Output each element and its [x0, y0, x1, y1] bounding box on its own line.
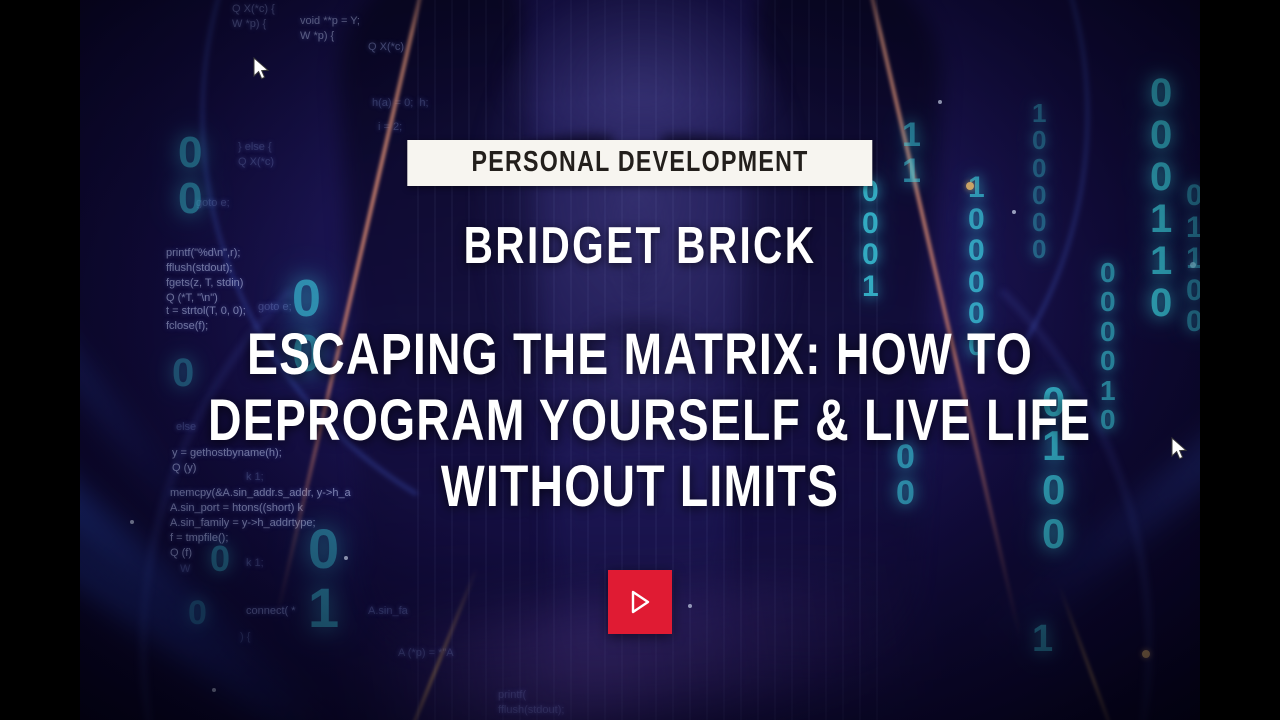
binary-column-13: 01100 — [1186, 180, 1200, 338]
sparkle-dot-8 — [688, 604, 692, 608]
sparkle-dot-0 — [966, 182, 974, 190]
binary-digit: 0 — [1100, 258, 1116, 287]
binary-column-15: 1 — [1032, 620, 1053, 660]
title-line-2: DEPROGRAM YOURSELF & LIVE LIFE — [208, 388, 1072, 454]
code-snippet-5: i = 2; — [378, 120, 402, 135]
code-snippet-18: A.sin_fa — [368, 604, 408, 619]
forehead — [498, 0, 784, 128]
code-snippet-17: ) { — [240, 630, 250, 645]
binary-digit: 1 — [1032, 100, 1046, 127]
code-snippet-16: connect( * — [246, 604, 296, 619]
sparkle-dot-1 — [1142, 650, 1150, 658]
binary-digit: 0 — [1032, 127, 1046, 154]
letterbox-bar-left — [0, 0, 80, 720]
binary-digit: 0 — [1186, 306, 1200, 338]
sparkle-dot-4 — [1012, 210, 1016, 214]
binary-digit: 0 — [1186, 180, 1200, 212]
binary-column-12: 000110 — [1150, 72, 1172, 324]
binary-digit: 0 — [1186, 275, 1200, 307]
sparkle-dot-7 — [344, 556, 348, 560]
code-snippet-2: Q X(*c) — [368, 40, 404, 55]
code-snippet-19: A (*p) = *"A — [398, 646, 454, 661]
binary-digit: 0 — [292, 272, 321, 327]
poster-content: PERSONAL DEVELOPMENT BRIDGET BRICK ESCAP… — [80, 0, 1200, 720]
code-snippet-6: goto e; — [196, 196, 230, 211]
binary-digit: 0 — [188, 596, 207, 632]
page-title: ESCAPING THE MATRIX: HOW TO DEPROGRAM YO… — [100, 322, 1180, 520]
speaker-name: BRIDGET BRICK — [414, 216, 866, 276]
code-snippet-20: printf( fflush(stdout); — [498, 688, 564, 718]
sparkle-dot-6 — [212, 688, 216, 692]
binary-digit: 0 — [968, 267, 985, 299]
category-badge-label: PERSONAL DEVELOPMENT — [471, 147, 808, 177]
title-line-3: WITHOUT LIMITS — [208, 454, 1072, 520]
video-poster[interactable]: Q X(*c) { W *p) {void **p = Y; W *p) {Q … — [80, 0, 1200, 720]
binary-digit: 0 — [968, 235, 985, 267]
binary-column-3: 01 — [308, 520, 339, 638]
code-snippet-9: goto e; — [258, 300, 292, 315]
play-icon — [627, 588, 653, 616]
binary-digit: 1 — [1150, 198, 1172, 240]
binary-digit: 1 — [1032, 620, 1053, 660]
speaker-name-label: BRIDGET BRICK — [464, 216, 817, 276]
binary-digit: 0 — [1032, 209, 1046, 236]
code-snippet-14: W — [180, 562, 190, 577]
binary-column-7: 11 — [902, 118, 921, 189]
binary-column-5: 0 — [188, 596, 207, 632]
code-snippet-4: h(a) = 0; h; — [372, 96, 429, 111]
binary-digit: 1 — [968, 172, 985, 204]
binary-digit: 1 — [902, 118, 921, 154]
code-snippet-0: Q X(*c) { W *p) { — [232, 2, 275, 32]
binary-digit: 0 — [210, 540, 230, 578]
code-snippet-7: printf("%d\n",r); fflush(stdout); fgets(… — [166, 246, 243, 306]
binary-digit: 1 — [308, 579, 339, 638]
category-badge: PERSONAL DEVELOPMENT — [407, 140, 872, 186]
binary-digit: 0 — [1150, 156, 1172, 198]
code-snippet-15: k 1; — [246, 556, 264, 571]
binary-digit: 0 — [1032, 155, 1046, 182]
play-button[interactable] — [608, 570, 672, 634]
binary-digit: 0 — [1150, 72, 1172, 114]
streak-gold-lower-left — [389, 568, 478, 720]
code-snippet-3: } else { Q X(*c) — [238, 140, 274, 170]
binary-digit: 0 — [968, 204, 985, 236]
binary-digit: 0 — [1032, 236, 1046, 263]
sparkle-dot-5 — [130, 520, 134, 524]
binary-digit: 1 — [1150, 240, 1172, 282]
binary-digit: 0 — [1032, 182, 1046, 209]
binary-digit: 1 — [902, 154, 921, 190]
binary-digit: 1 — [1186, 243, 1200, 275]
binary-digit: 0 — [1150, 282, 1172, 324]
screen: Q X(*c) { W *p) {void **p = Y; W *p) {Q … — [0, 0, 1280, 720]
streak-gold-lower-right — [1058, 586, 1129, 720]
letterbox-bar-right — [1200, 0, 1280, 720]
binary-column-4: 0 — [210, 540, 230, 578]
sparkle-dot-2 — [1190, 262, 1196, 268]
binary-digit: 0 — [1150, 114, 1172, 156]
binary-digit: 0 — [308, 520, 339, 579]
binary-digit: 0 — [178, 130, 202, 176]
sparkle-dot-3 — [938, 100, 942, 104]
code-snippet-1: void **p = Y; W *p) { — [300, 14, 360, 44]
binary-digit: 0 — [1100, 287, 1116, 316]
binary-column-0: 00 — [178, 130, 202, 222]
binary-column-9: 100000 — [1032, 100, 1046, 264]
binary-digit: 0 — [178, 176, 202, 222]
title-line-1: ESCAPING THE MATRIX: HOW TO — [208, 322, 1072, 388]
binary-digit: 1 — [1186, 212, 1200, 244]
